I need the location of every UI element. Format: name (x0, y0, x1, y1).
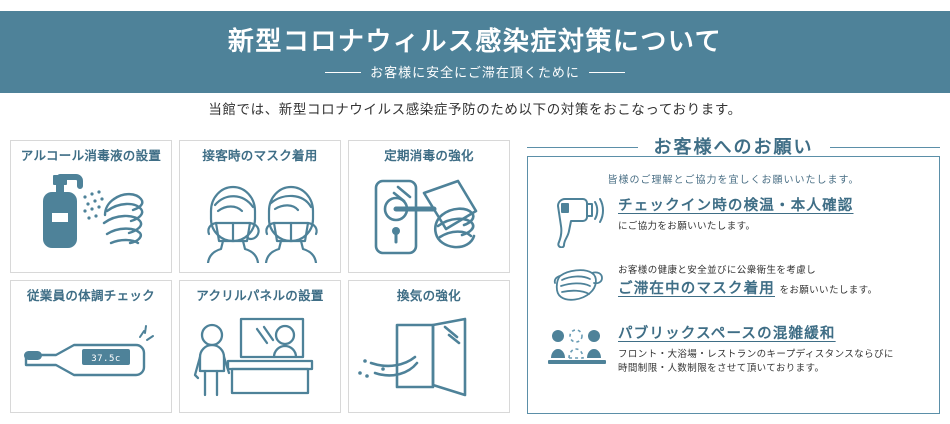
request-headline: パブリックスペースの混雑緩和 (618, 326, 836, 342)
measures-grid: アルコール消毒液の設置 (10, 140, 510, 413)
request-item-temperature-check: チェックイン時の検温・本人確認 にご協力をお願いいたします。 (528, 196, 939, 248)
measure-card-sanitizer: アルコール消毒液の設置 (10, 140, 172, 273)
subtitle-rule-right (589, 72, 625, 73)
request-tailtext: をお願いいたします。 (779, 285, 877, 296)
panel-title-rule-left (527, 147, 638, 148)
masked-staff-icon (180, 163, 340, 273)
guest-requests-panel: 皆様のご理解とご協力を宜しくお願いいたします。 (527, 156, 940, 414)
request-headline: チェックイン時の検温・本人確認 (618, 198, 854, 214)
subtitle-rule-left (325, 72, 361, 73)
request-note: フロント・大浴場・レストランのキープディスタンスならびに 時間制限・人数制限をさ… (618, 348, 925, 377)
request-item-distancing: パブリックスペースの混雑緩和 フロント・大浴場・レストランのキープディスタンスな… (528, 324, 939, 377)
page-title: 新型コロナウィルス感染症対策について (228, 28, 722, 54)
requests-list: チェックイン時の検温・本人確認 にご協力をお願いいたします。 (528, 196, 939, 377)
face-mask-icon (544, 262, 614, 308)
measure-card-label: 定期消毒の強化 (384, 150, 474, 163)
measure-card-label: アクリルパネルの設置 (196, 290, 323, 303)
measure-card-label: 従業員の体調チェック (27, 290, 155, 303)
request-text-block: お客様の健康と安全並びに公衆衛生を考慮し ご滞在中のマスク着用 をお願いいたしま… (614, 262, 925, 301)
request-headline: ご滞在中のマスク着用 (618, 281, 775, 297)
thermometer-gun-icon (544, 196, 614, 248)
covid-measures-page: 新型コロナウィルス感染症対策について お客様に安全にご滞在頂くために 当館では、… (0, 0, 950, 424)
request-note: にご協力をお願いいたします。 (618, 220, 925, 235)
measure-card-acrylic-panel: アクリルパネルの設置 (179, 280, 341, 413)
page-subtitle: お客様に安全にご滞在頂くために (370, 66, 580, 79)
thermometer-reading: 37.5c (91, 354, 121, 364)
page-header: 新型コロナウィルス感染症対策について お客様に安全にご滞在頂くために (0, 11, 950, 93)
measure-card-label: 接客時のマスク着用 (202, 150, 317, 163)
measure-card-disinfection: 定期消毒の強化 (348, 140, 510, 273)
measure-card-ventilation: 換気の強化 (348, 280, 510, 413)
measure-card-mask: 接客時のマスク着用 (179, 140, 341, 273)
measure-card-staff-health-check: 従業員の体調チェック 37.5c (10, 280, 172, 413)
panel-title: お客様へのお願い (648, 138, 820, 156)
request-text-block: チェックイン時の検温・本人確認 にご協力をお願いいたします。 (614, 196, 925, 234)
acrylic-panel-counter-icon (180, 303, 340, 413)
panel-title-rule-right (830, 147, 941, 148)
measure-card-label: 換気の強化 (397, 290, 461, 303)
request-text-block: パブリックスペースの混雑緩和 フロント・大浴場・レストランのキープディスタンスな… (614, 324, 925, 377)
door-handle-wipe-icon (349, 163, 509, 273)
panel-subtitle: 皆様のご理解とご協力を宜しくお願いいたします。 (528, 171, 939, 186)
panel-title-row: お客様へのお願い (527, 134, 940, 160)
sanitizer-dispenser-icon (11, 163, 171, 273)
request-item-wear-mask: お客様の健康と安全並びに公衆衛生を考慮し ご滞在中のマスク着用 をお願いいたしま… (528, 262, 939, 308)
digital-thermometer-icon: 37.5c (11, 303, 171, 413)
social-distance-seats-icon (544, 324, 614, 370)
open-window-airflow-icon (349, 303, 509, 413)
page-subtitle-row: お客様に安全にご滞在頂くために (325, 66, 625, 79)
request-pretext: お客様の健康と安全並びに公衆衛生を考慮し (618, 262, 925, 276)
measure-card-label: アルコール消毒液の設置 (21, 150, 161, 163)
intro-text: 当館では、新型コロナウイルス感染症予防のため以下の対策をおこなっております。 (0, 98, 950, 118)
